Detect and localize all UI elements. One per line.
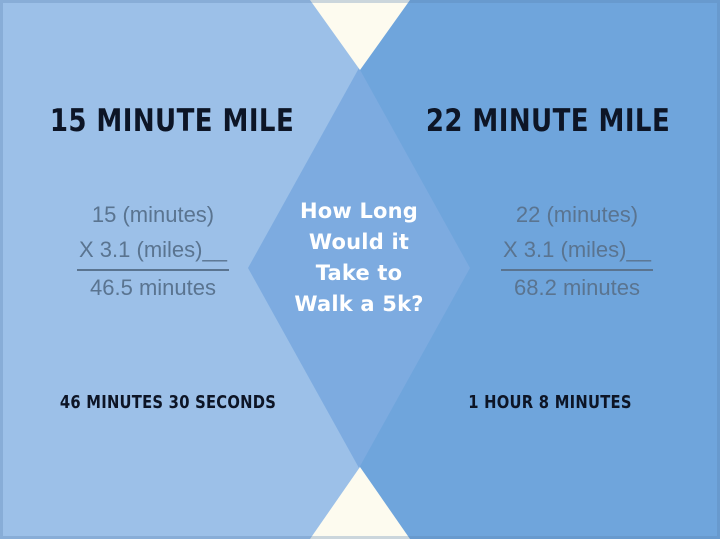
left-result-label: 46 MINUTES 30 SECONDS	[29, 392, 308, 413]
question-line-1: How Long	[255, 196, 463, 227]
question-line-3: Take to	[255, 258, 463, 289]
right-calc-total: 68.2 minutes	[432, 271, 720, 305]
right-calc-miles: X 3.1 (miles)__	[501, 232, 653, 271]
right-calc-minutes: 22 (minutes)	[432, 198, 720, 232]
question-line-4: Walk a 5k?	[255, 289, 463, 320]
center-question: How Long Would it Take to Walk a 5k?	[255, 196, 463, 320]
right-panel-heading: 22 MINUTE MILE	[405, 103, 691, 139]
infographic-canvas: 15 MINUTE MILE 22 MINUTE MILE 15 (minute…	[0, 0, 720, 539]
right-calc-multiplier-row: X 3.1 (miles)__	[432, 232, 720, 271]
left-panel-heading: 15 MINUTE MILE	[29, 103, 315, 139]
right-calculation-block: 22 (minutes) X 3.1 (miles)__ 68.2 minute…	[432, 198, 720, 305]
question-line-2: Would it	[255, 227, 463, 258]
left-calc-miles: X 3.1 (miles)__	[77, 232, 229, 271]
right-result-label: 1 HOUR 8 MINUTES	[411, 392, 690, 413]
